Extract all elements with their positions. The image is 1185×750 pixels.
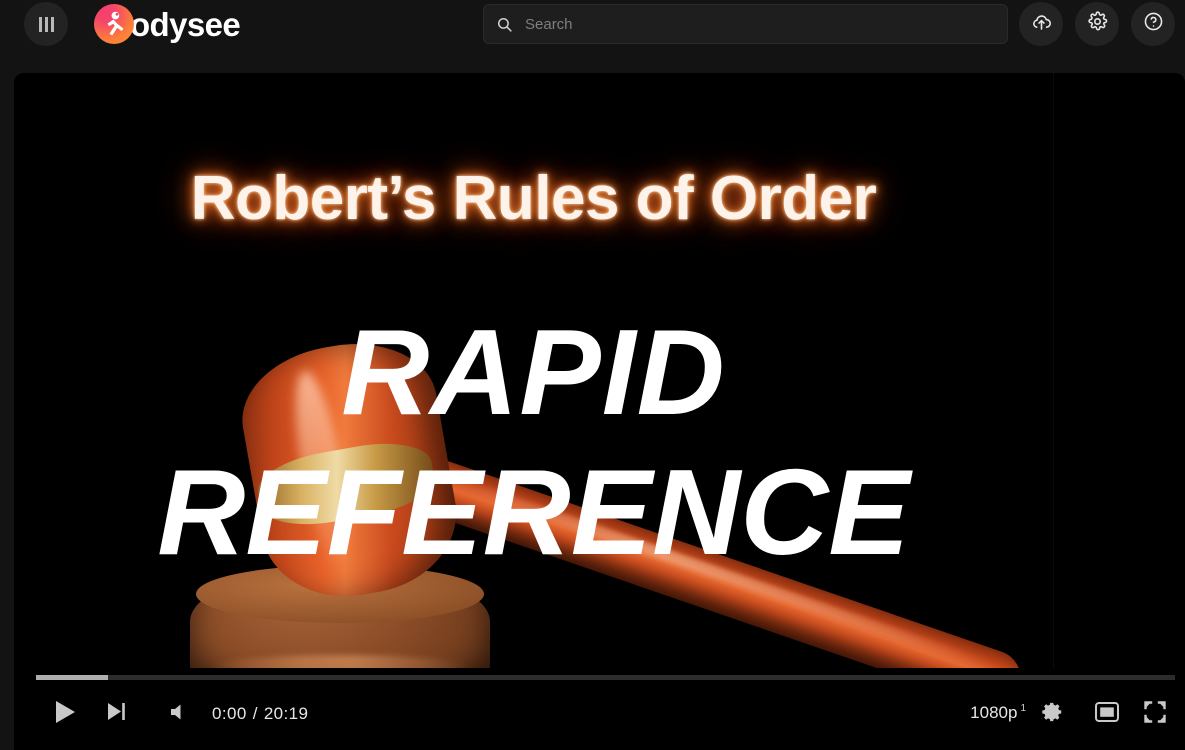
video-stage[interactable]: Robert’s Rules of Order RAPID REFERENCE … xyxy=(14,73,1053,750)
search-input[interactable] xyxy=(525,16,995,33)
time-duration: 20:19 xyxy=(264,704,309,724)
gear-icon xyxy=(1087,11,1108,37)
player-controls: 0:00 / 20:19 1080p 1 xyxy=(14,668,1185,750)
picture-in-picture-icon xyxy=(1095,702,1119,727)
settings-button[interactable] xyxy=(1075,2,1119,46)
fullscreen-icon xyxy=(1144,701,1166,728)
cloud-upload-icon xyxy=(1031,11,1052,37)
time-current: 0:00 xyxy=(212,704,247,724)
quality-label: 1080p xyxy=(970,703,1017,723)
time-display: 0:00 / 20:19 xyxy=(212,686,308,742)
play-button[interactable] xyxy=(40,686,90,742)
next-button[interactable] xyxy=(94,686,138,742)
upload-button[interactable] xyxy=(1019,2,1063,46)
volume-muted-icon xyxy=(170,703,188,726)
gavel-head xyxy=(232,330,468,610)
slide-title: Robert’s Rules of Order xyxy=(14,163,1053,234)
gear-icon xyxy=(1042,701,1064,728)
video-player[interactable]: Robert’s Rules of Order RAPID REFERENCE … xyxy=(14,73,1185,750)
help-button[interactable] xyxy=(1131,2,1175,46)
progress-bar[interactable] xyxy=(36,675,1175,680)
header-actions xyxy=(1019,2,1175,46)
player-settings-button[interactable] xyxy=(1033,686,1073,742)
control-row: 0:00 / 20:19 1080p 1 xyxy=(14,686,1185,742)
brand-wordmark: odysee xyxy=(130,8,240,41)
play-icon xyxy=(54,700,76,729)
search-icon xyxy=(496,16,513,33)
skip-next-icon xyxy=(107,702,126,726)
video-pillarbox xyxy=(1053,73,1185,750)
mute-button[interactable] xyxy=(157,686,201,742)
time-separator: / xyxy=(253,704,258,724)
menu-bars-icon xyxy=(39,17,54,32)
app-header: odysee xyxy=(0,0,1185,48)
odysee-astronaut-icon xyxy=(94,4,134,44)
brand-home-link[interactable]: odysee xyxy=(94,4,240,44)
slide-heading-line-1: RAPID xyxy=(14,311,1053,433)
slide-heading-line-2: REFERENCE xyxy=(14,451,1053,573)
progress-buffered xyxy=(36,675,108,680)
quality-superscript: 1 xyxy=(1020,703,1026,714)
fullscreen-button[interactable] xyxy=(1135,686,1175,742)
search-bar[interactable] xyxy=(483,4,1008,44)
help-circle-icon xyxy=(1143,11,1164,37)
picture-in-picture-button[interactable] xyxy=(1087,686,1127,742)
sidebar-menu-toggle-button[interactable] xyxy=(24,2,68,46)
gavel-band xyxy=(253,434,438,533)
quality-selector[interactable]: 1080p 1 xyxy=(970,686,1026,742)
